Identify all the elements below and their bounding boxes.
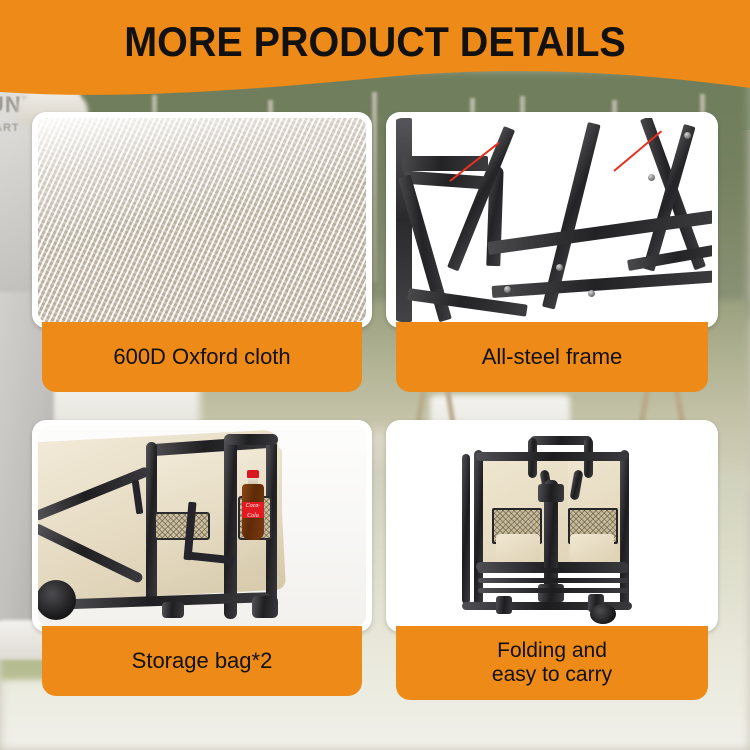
folded-handle [530, 436, 592, 445]
card-label-folding-line1: Folding and [492, 639, 612, 663]
folded-frame-rail [476, 452, 628, 461]
oxford-fabric-closeup [38, 118, 366, 322]
folded-center-joint [538, 584, 564, 602]
frame-rivet [556, 264, 563, 271]
card-label-folding: Folding and easy to carry [396, 626, 708, 700]
product-detail-infographic: UND ART MORE PRODUCT DETAILS 600D Oxford… [0, 0, 750, 750]
folded-base-slat [478, 578, 628, 583]
header-banner: MORE PRODUCT DETAILS [0, 0, 750, 115]
folded-base-slat [478, 588, 628, 593]
card-label-fabric: 600D Oxford cloth [42, 322, 362, 392]
folded-wagon-photo [392, 426, 712, 626]
card-label-storage: Storage bag*2 [42, 626, 362, 696]
wagon-foot [162, 602, 184, 618]
card-fabric[interactable] [32, 112, 372, 328]
card-folding[interactable] [386, 420, 718, 632]
wagon-frame-tube [224, 434, 278, 445]
storage-bag-photo: Coca-Cola [38, 426, 366, 626]
folded-wheel [590, 604, 616, 624]
folded-foot [496, 596, 512, 614]
card-label-storage-text: Storage bag*2 [132, 649, 273, 674]
folded-base-slat [478, 568, 628, 573]
fabric-highlight [38, 118, 366, 322]
tree-trunk [372, 92, 377, 282]
mesh-storage-bag [154, 512, 210, 540]
card-label-frame: All-steel frame [396, 322, 708, 392]
card-label-folding-line2: easy to carry [492, 663, 612, 687]
card-label-frame-text: All-steel frame [482, 345, 623, 370]
folded-pocket-fabric [496, 534, 540, 562]
bottle-brand-text: Coca-Cola [242, 502, 264, 521]
folded-pocket-fabric [570, 534, 614, 562]
frame-rivet [504, 286, 511, 293]
card-label-fabric-text: 600D Oxford cloth [113, 345, 290, 370]
wagon-foot [252, 596, 278, 618]
card-storage[interactable]: Coca-Cola [32, 420, 372, 632]
bottle-label: Coca-Cola [242, 502, 264, 518]
frame-rivet [684, 132, 691, 139]
frame-rivet [648, 174, 655, 181]
card-frame[interactable] [386, 112, 718, 328]
folded-frame-rail [462, 454, 470, 604]
frame-rivet [588, 290, 595, 297]
hoodie-print-subtext: ART [0, 122, 20, 134]
folded-frame-rail [620, 450, 629, 610]
folded-frame-rail [474, 450, 483, 610]
bottle-cap [247, 470, 259, 478]
wagon-frame-post [224, 434, 237, 619]
folded-center-joint [538, 484, 564, 502]
frame-bar [402, 156, 488, 171]
steel-frame-closeup [392, 118, 712, 322]
page-title: MORE PRODUCT DETAILS [23, 18, 728, 66]
